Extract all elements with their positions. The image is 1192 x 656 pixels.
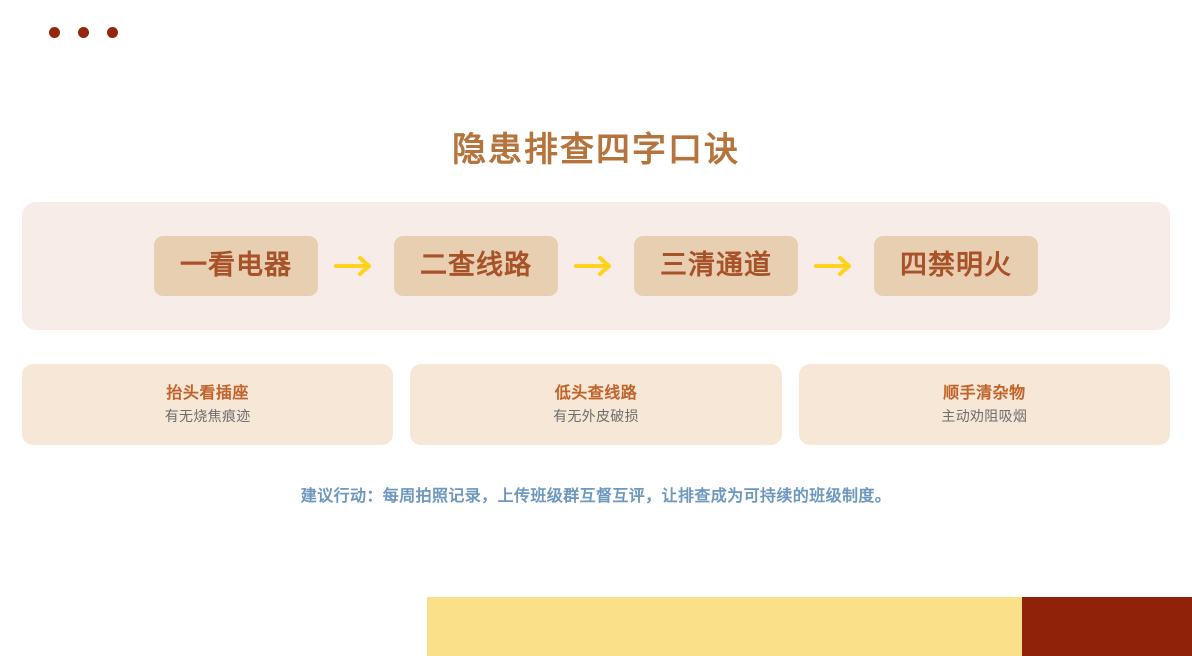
card-title: 顺手清杂物 xyxy=(943,386,1026,402)
window-dot-3 xyxy=(107,27,118,38)
footer-bar-yellow xyxy=(427,597,1022,656)
footer-bar-red xyxy=(1022,597,1192,656)
page-title: 隐患排查四字口诀 xyxy=(0,130,1192,171)
detail-card-1[interactable]: 抬头看插座 有无烧焦痕迹 xyxy=(22,364,393,445)
advice-text: 建议行动：每周拍照记录，上传班级群互督互评，让排查成为可持续的班级制度。 xyxy=(0,482,1192,506)
card-subtitle: 有无外皮破损 xyxy=(553,409,639,423)
arrow-right-icon-3 xyxy=(798,253,874,279)
window-dots xyxy=(49,27,118,38)
card-title: 抬头看插座 xyxy=(166,386,249,402)
window-dot-2 xyxy=(78,27,89,38)
flow-panel: 一看电器 二查线路 三清通道 四禁明火 xyxy=(22,202,1170,330)
card-subtitle: 主动劝阻吸烟 xyxy=(941,409,1027,423)
detail-card-2[interactable]: 低头查线路 有无外皮破损 xyxy=(410,364,781,445)
detail-card-3[interactable]: 顺手清杂物 主动劝阻吸烟 xyxy=(799,364,1170,445)
arrow-right-icon-1 xyxy=(318,253,394,279)
detail-cards: 抬头看插座 有无烧焦痕迹 低头查线路 有无外皮破损 顺手清杂物 主动劝阻吸烟 xyxy=(22,364,1170,445)
flow-step-3[interactable]: 三清通道 xyxy=(634,236,798,296)
card-subtitle: 有无烧焦痕迹 xyxy=(165,409,251,423)
flow-step-4[interactable]: 四禁明火 xyxy=(874,236,1038,296)
flow-step-2[interactable]: 二查线路 xyxy=(394,236,558,296)
window-dot-1 xyxy=(49,27,60,38)
flow-steps-container: 一看电器 二查线路 三清通道 四禁明火 xyxy=(154,236,1038,296)
flow-step-1[interactable]: 一看电器 xyxy=(154,236,318,296)
card-title: 低头查线路 xyxy=(555,386,638,402)
arrow-right-icon-2 xyxy=(558,253,634,279)
